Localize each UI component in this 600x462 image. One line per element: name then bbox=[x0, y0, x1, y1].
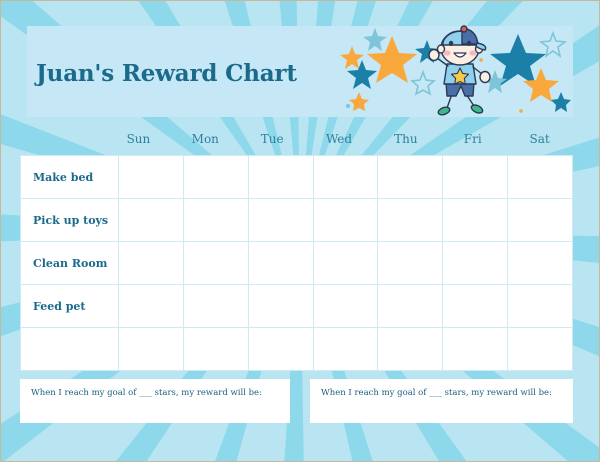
cell-blank-sun[interactable] bbox=[119, 328, 184, 371]
star-lightteal-upper-left bbox=[363, 28, 387, 51]
reward-goal-box-right[interactable]: When I reach my goal of ___ stars, my re… bbox=[310, 379, 573, 423]
reward-goal-label-left: When I reach my goal of ___ stars, my re… bbox=[20, 379, 290, 398]
day-header-sun: Sun bbox=[105, 128, 172, 155]
cell-blank-sat[interactable] bbox=[508, 328, 573, 371]
task-label-pick-up-toys: Pick up toys bbox=[21, 199, 119, 242]
cell-feed-pet-thu[interactable] bbox=[378, 285, 443, 328]
reward-goal-label-right: When I reach my goal of ___ stars, my re… bbox=[310, 379, 573, 398]
day-header-wed: Wed bbox=[306, 128, 373, 155]
task-label-blank[interactable] bbox=[21, 328, 119, 371]
star-orange-lower-left bbox=[349, 92, 369, 111]
page-title: Juan's Reward Chart bbox=[36, 60, 297, 87]
task-label-make-bed: Make bed bbox=[21, 156, 119, 199]
reward-goal-box-left[interactable]: When I reach my goal of ___ stars, my re… bbox=[20, 379, 290, 423]
day-header-mon: Mon bbox=[172, 128, 239, 155]
reward-chart-page: Juan's Reward Chart bbox=[0, 0, 600, 462]
cell-feed-pet-mon[interactable] bbox=[183, 285, 248, 328]
cell-feed-pet-tue[interactable] bbox=[248, 285, 313, 328]
cell-make-bed-tue[interactable] bbox=[248, 156, 313, 199]
cell-pick-up-toys-mon[interactable] bbox=[183, 199, 248, 242]
day-header-spacer bbox=[20, 128, 105, 155]
cell-feed-pet-sat[interactable] bbox=[508, 285, 573, 328]
dot-mid bbox=[479, 58, 483, 62]
cell-clean-room-tue[interactable] bbox=[248, 242, 313, 285]
cell-clean-room-thu[interactable] bbox=[378, 242, 443, 285]
cell-clean-room-fri[interactable] bbox=[443, 242, 508, 285]
cell-make-bed-sun[interactable] bbox=[119, 156, 184, 199]
boy-figure bbox=[429, 26, 490, 116]
cell-make-bed-sat[interactable] bbox=[508, 156, 573, 199]
star-outline-mid bbox=[412, 72, 434, 94]
cell-feed-pet-wed[interactable] bbox=[313, 285, 378, 328]
cell-pick-up-toys-tue[interactable] bbox=[248, 199, 313, 242]
cell-feed-pet-sun[interactable] bbox=[119, 285, 184, 328]
task-label-clean-room: Clean Room bbox=[21, 242, 119, 285]
dot-right bbox=[519, 109, 523, 113]
reward-chart-table: Make bed Pick up toys Clean Ro bbox=[20, 155, 573, 371]
day-header-fri: Fri bbox=[439, 128, 506, 155]
cell-clean-room-sat[interactable] bbox=[508, 242, 573, 285]
cell-blank-wed[interactable] bbox=[313, 328, 378, 371]
cell-pick-up-toys-sun[interactable] bbox=[119, 199, 184, 242]
cell-clean-room-wed[interactable] bbox=[313, 242, 378, 285]
cell-clean-room-sun[interactable] bbox=[119, 242, 184, 285]
cell-blank-thu[interactable] bbox=[378, 328, 443, 371]
boy-with-stars-illustration bbox=[335, 20, 585, 120]
table-row: Make bed bbox=[21, 156, 573, 199]
cell-make-bed-wed[interactable] bbox=[313, 156, 378, 199]
star-outline-right bbox=[541, 33, 565, 56]
dot-left bbox=[346, 104, 350, 108]
table-row: Feed pet bbox=[21, 285, 573, 328]
cell-make-bed-thu[interactable] bbox=[378, 156, 443, 199]
day-header-thu: Thu bbox=[372, 128, 439, 155]
star-teal-small-right bbox=[551, 92, 571, 112]
cell-make-bed-mon[interactable] bbox=[183, 156, 248, 199]
table-row: Clean Room bbox=[21, 242, 573, 285]
day-header-tue: Tue bbox=[239, 128, 306, 155]
task-label-feed-pet: Feed pet bbox=[21, 285, 119, 328]
day-header-sat: Sat bbox=[506, 128, 573, 155]
cell-blank-tue[interactable] bbox=[248, 328, 313, 371]
cell-clean-room-mon[interactable] bbox=[183, 242, 248, 285]
day-header-row: Sun Mon Tue Wed Thu Fri Sat bbox=[20, 128, 573, 155]
table-row bbox=[21, 328, 573, 371]
cell-pick-up-toys-fri[interactable] bbox=[443, 199, 508, 242]
cell-pick-up-toys-wed[interactable] bbox=[313, 199, 378, 242]
cell-feed-pet-fri[interactable] bbox=[443, 285, 508, 328]
cell-blank-fri[interactable] bbox=[443, 328, 508, 371]
table-row: Pick up toys bbox=[21, 199, 573, 242]
cell-blank-mon[interactable] bbox=[183, 328, 248, 371]
cell-pick-up-toys-sat[interactable] bbox=[508, 199, 573, 242]
cell-pick-up-toys-thu[interactable] bbox=[378, 199, 443, 242]
cell-make-bed-fri[interactable] bbox=[443, 156, 508, 199]
